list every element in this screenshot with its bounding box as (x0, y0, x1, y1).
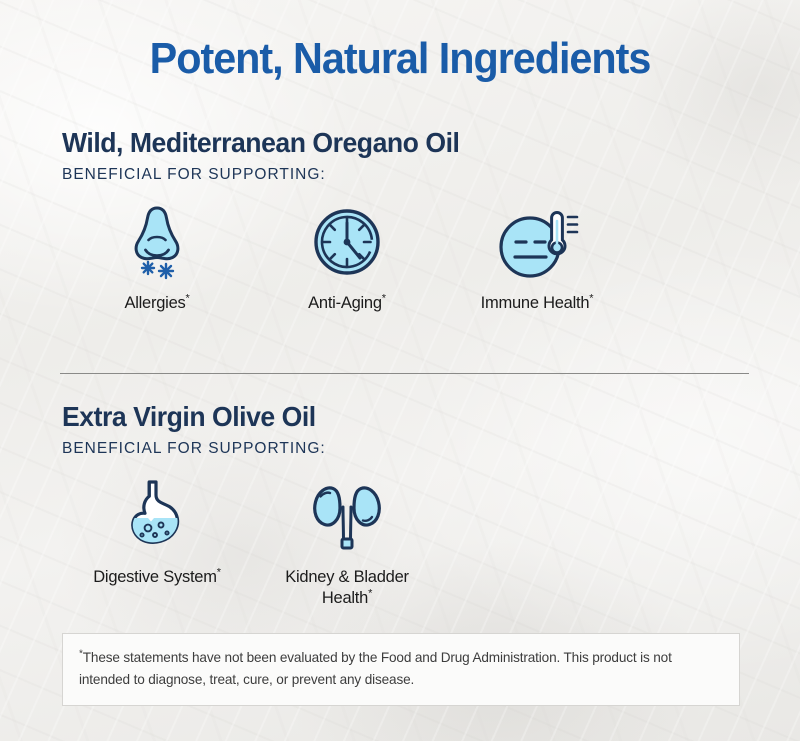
benefit-label-text: Immune Health (481, 294, 590, 312)
footnote-marker: * (589, 293, 593, 305)
section-title: Extra Virgin Olive Oil (62, 400, 718, 434)
benefit-item-digestive-system: Digestive System* (62, 476, 252, 609)
section-oregano-oil: Wild, Mediterranean Oregano Oil BENEFICI… (62, 126, 752, 314)
benefit-label-text: Allergies (124, 294, 185, 312)
footnote-marker: * (368, 588, 372, 600)
benefit-label: Kidney & Bladder Health* (272, 567, 422, 609)
disclaimer-box: *These statements have not been evaluate… (62, 633, 740, 706)
page-content: Potent, Natural Ingredients Wild, Medite… (0, 0, 800, 741)
kidney-bladder-icon (307, 476, 387, 554)
benefit-list: Digestive System* (62, 476, 752, 609)
footnote-marker: * (186, 293, 190, 305)
disclaimer-text: These statements have not been evaluated… (79, 650, 672, 687)
benefit-item-immune-health: Immune Health* (442, 202, 632, 314)
footnote-marker: * (217, 567, 221, 579)
stomach-digestive-icon (118, 476, 196, 554)
section-olive-oil: Extra Virgin Olive Oil BENEFICIAL FOR SU… (62, 400, 752, 609)
benefit-item-allergies: Allergies* (62, 202, 252, 314)
benefit-label: Digestive System* (93, 567, 221, 588)
benefit-label-text: Anti-Aging (308, 294, 382, 312)
benefit-label: Allergies* (124, 293, 189, 314)
clock-anti-aging-icon (308, 202, 386, 280)
benefit-label-text: Digestive System (93, 568, 216, 586)
benefit-item-kidney-bladder: Kidney & Bladder Health* (252, 476, 442, 609)
benefit-label: Anti-Aging* (308, 293, 386, 314)
section-subtitle: BENEFICIAL FOR SUPPORTING: (62, 164, 752, 186)
footnote-marker: * (382, 293, 386, 305)
section-title: Wild, Mediterranean Oregano Oil (62, 126, 718, 160)
benefit-list: Allergies* (62, 202, 752, 314)
section-subtitle: BENEFICIAL FOR SUPPORTING: (62, 438, 752, 460)
section-divider (60, 373, 749, 374)
thermometer-face-immune-icon (494, 202, 580, 280)
benefit-label: Immune Health* (481, 293, 594, 314)
page-title: Potent, Natural Ingredients (24, 29, 776, 85)
benefit-label-text: Kidney & Bladder Health (285, 568, 409, 607)
nose-allergies-icon (117, 202, 197, 280)
benefit-item-anti-aging: Anti-Aging* (252, 202, 442, 314)
